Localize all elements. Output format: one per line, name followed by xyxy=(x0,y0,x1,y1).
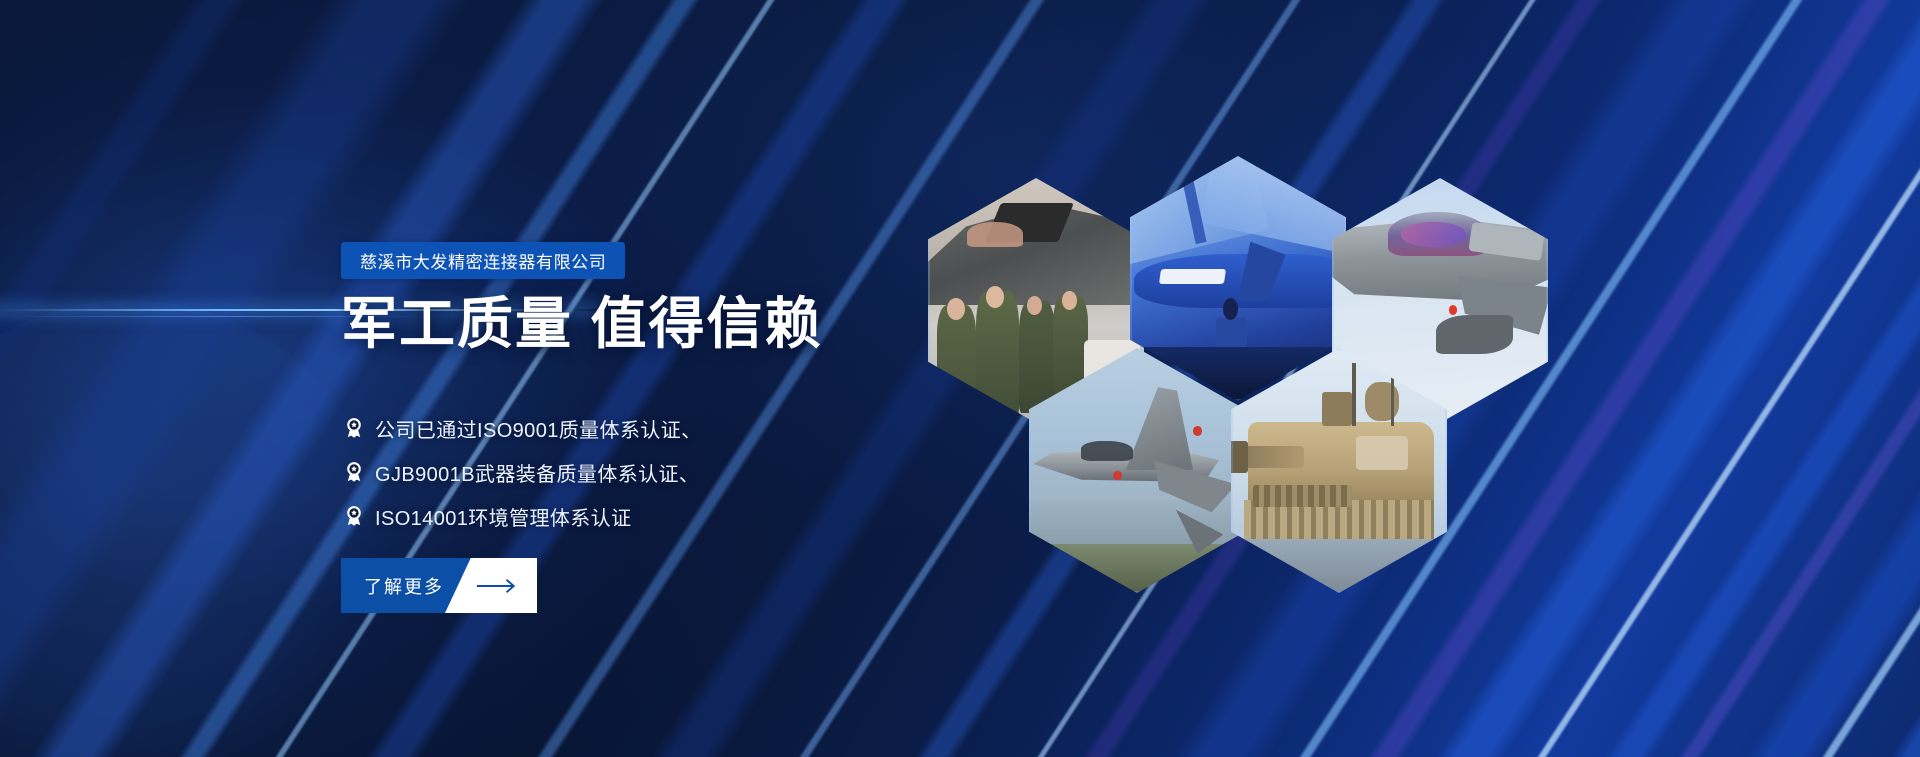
page-title: 军工质量 值得信赖 xyxy=(341,296,823,352)
list-item-label: GJB9001B武器装备质量体系认证、 xyxy=(375,458,699,487)
company-name-tag: 慈溪市大发精密连接器有限公司 xyxy=(341,242,625,279)
hero-content: 慈溪市大发精密连接器有限公司 军工质量 值得信赖 公司已通过ISO9001质量体… xyxy=(341,0,1061,757)
learn-more-label: 了解更多 xyxy=(364,558,444,613)
hero-banner: 慈溪市大发精密连接器有限公司 军工质量 值得信赖 公司已通过ISO9001质量体… xyxy=(0,0,1920,757)
list-item: GJB9001B武器装备质量体系认证、 xyxy=(343,450,702,494)
list-item: 公司已通过ISO9001质量体系认证、 xyxy=(343,406,702,450)
list-item-label: ISO14001环境管理体系认证 xyxy=(375,502,631,531)
list-item-label: 公司已通过ISO9001质量体系认证、 xyxy=(375,414,702,443)
learn-more-button[interactable]: 了解更多 xyxy=(341,558,537,613)
list-item: ISO14001环境管理体系认证 xyxy=(343,494,702,538)
medal-badge-icon xyxy=(343,461,365,483)
arrow-right-icon xyxy=(475,558,519,613)
company-name-text: 慈溪市大发精密连接器有限公司 xyxy=(360,248,606,273)
medal-badge-icon xyxy=(343,417,365,439)
certification-list: 公司已通过ISO9001质量体系认证、 GJB9001B武器装备质量体系认证、 xyxy=(343,406,702,538)
medal-badge-icon xyxy=(343,505,365,527)
